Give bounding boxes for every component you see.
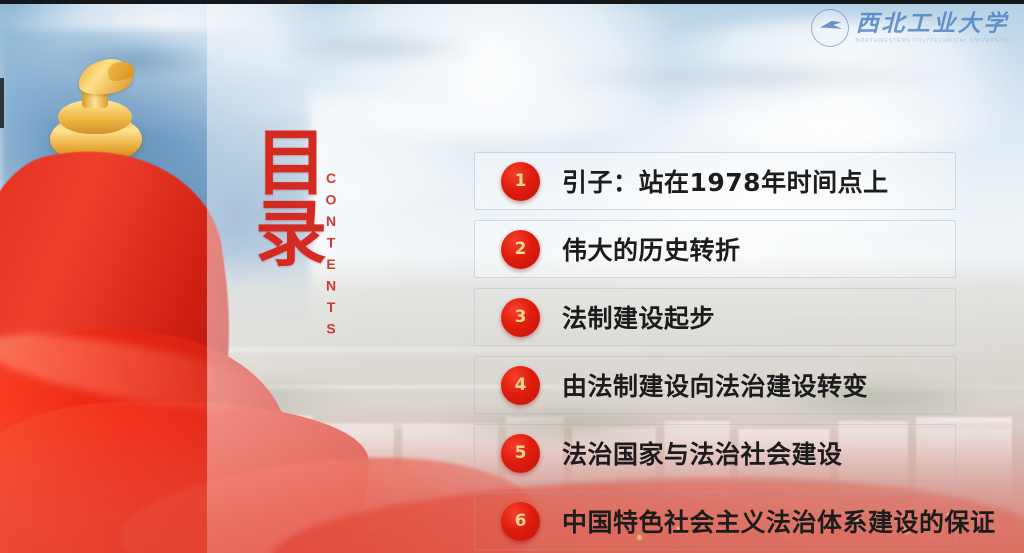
top-letterbox-bar bbox=[0, 0, 1024, 4]
page-title-char-1: 目 bbox=[255, 128, 385, 199]
toc-item-label: 由法制建设向法治建设转变 bbox=[562, 367, 868, 403]
toc-number-badge: 3 bbox=[501, 298, 540, 337]
contents-heading: 目 录 CONTENTS bbox=[255, 128, 385, 318]
toc-item-1[interactable]: 1 引子：站在1978年时间点上 bbox=[474, 152, 1024, 210]
toc-item-label: 伟大的历史转折 bbox=[562, 231, 741, 267]
toc-item-label: 引子：站在1978年时间点上 bbox=[562, 163, 889, 199]
toc-item-6[interactable]: 6 中国特色社会主义法治体系建设的保证 bbox=[474, 492, 1024, 550]
university-name-cn: 西北工业大学 bbox=[856, 12, 1010, 36]
toc-item-label: 法制建设起步 bbox=[562, 299, 715, 335]
toc-list: 1 引子：站在1978年时间点上 2 伟大的历史转折 3 法制建设起步 4 由法… bbox=[474, 152, 1024, 553]
contents-subtitle: CONTENTS bbox=[323, 170, 339, 342]
toc-number-badge: 5 bbox=[501, 434, 540, 473]
toc-item-2[interactable]: 2 伟大的历史转折 bbox=[474, 220, 1024, 278]
toc-item-5[interactable]: 5 法治国家与法治社会建设 bbox=[474, 424, 1024, 482]
toc-item-4[interactable]: 4 由法制建设向法治建设转变 bbox=[474, 356, 1024, 414]
university-emblem-icon bbox=[811, 9, 849, 47]
toc-item-label: 中国特色社会主义法治体系建设的保证 bbox=[562, 503, 996, 539]
toc-number-badge: 1 bbox=[501, 162, 540, 201]
university-name-en: NORTHWESTERN POLYTECHNICAL UNIVERSITY bbox=[856, 38, 1010, 44]
toc-number-badge: 2 bbox=[501, 230, 540, 269]
toc-number-badge: 6 bbox=[501, 502, 540, 541]
page-title-char-2: 录 bbox=[255, 199, 385, 270]
nwpu-logo: 西北工业大学 NORTHWESTERN POLYTECHNICAL UNIVER… bbox=[811, 9, 1010, 47]
slide-canvas: 西北工业大学 NORTHWESTERN POLYTECHNICAL UNIVER… bbox=[0, 0, 1024, 553]
toc-number-badge: 4 bbox=[501, 366, 540, 405]
left-edge-artifact bbox=[0, 78, 4, 128]
toc-item-3[interactable]: 3 法制建设起步 bbox=[474, 288, 1024, 346]
page-title: 目 录 bbox=[255, 128, 385, 269]
toc-item-label: 法治国家与法治社会建设 bbox=[562, 435, 843, 471]
